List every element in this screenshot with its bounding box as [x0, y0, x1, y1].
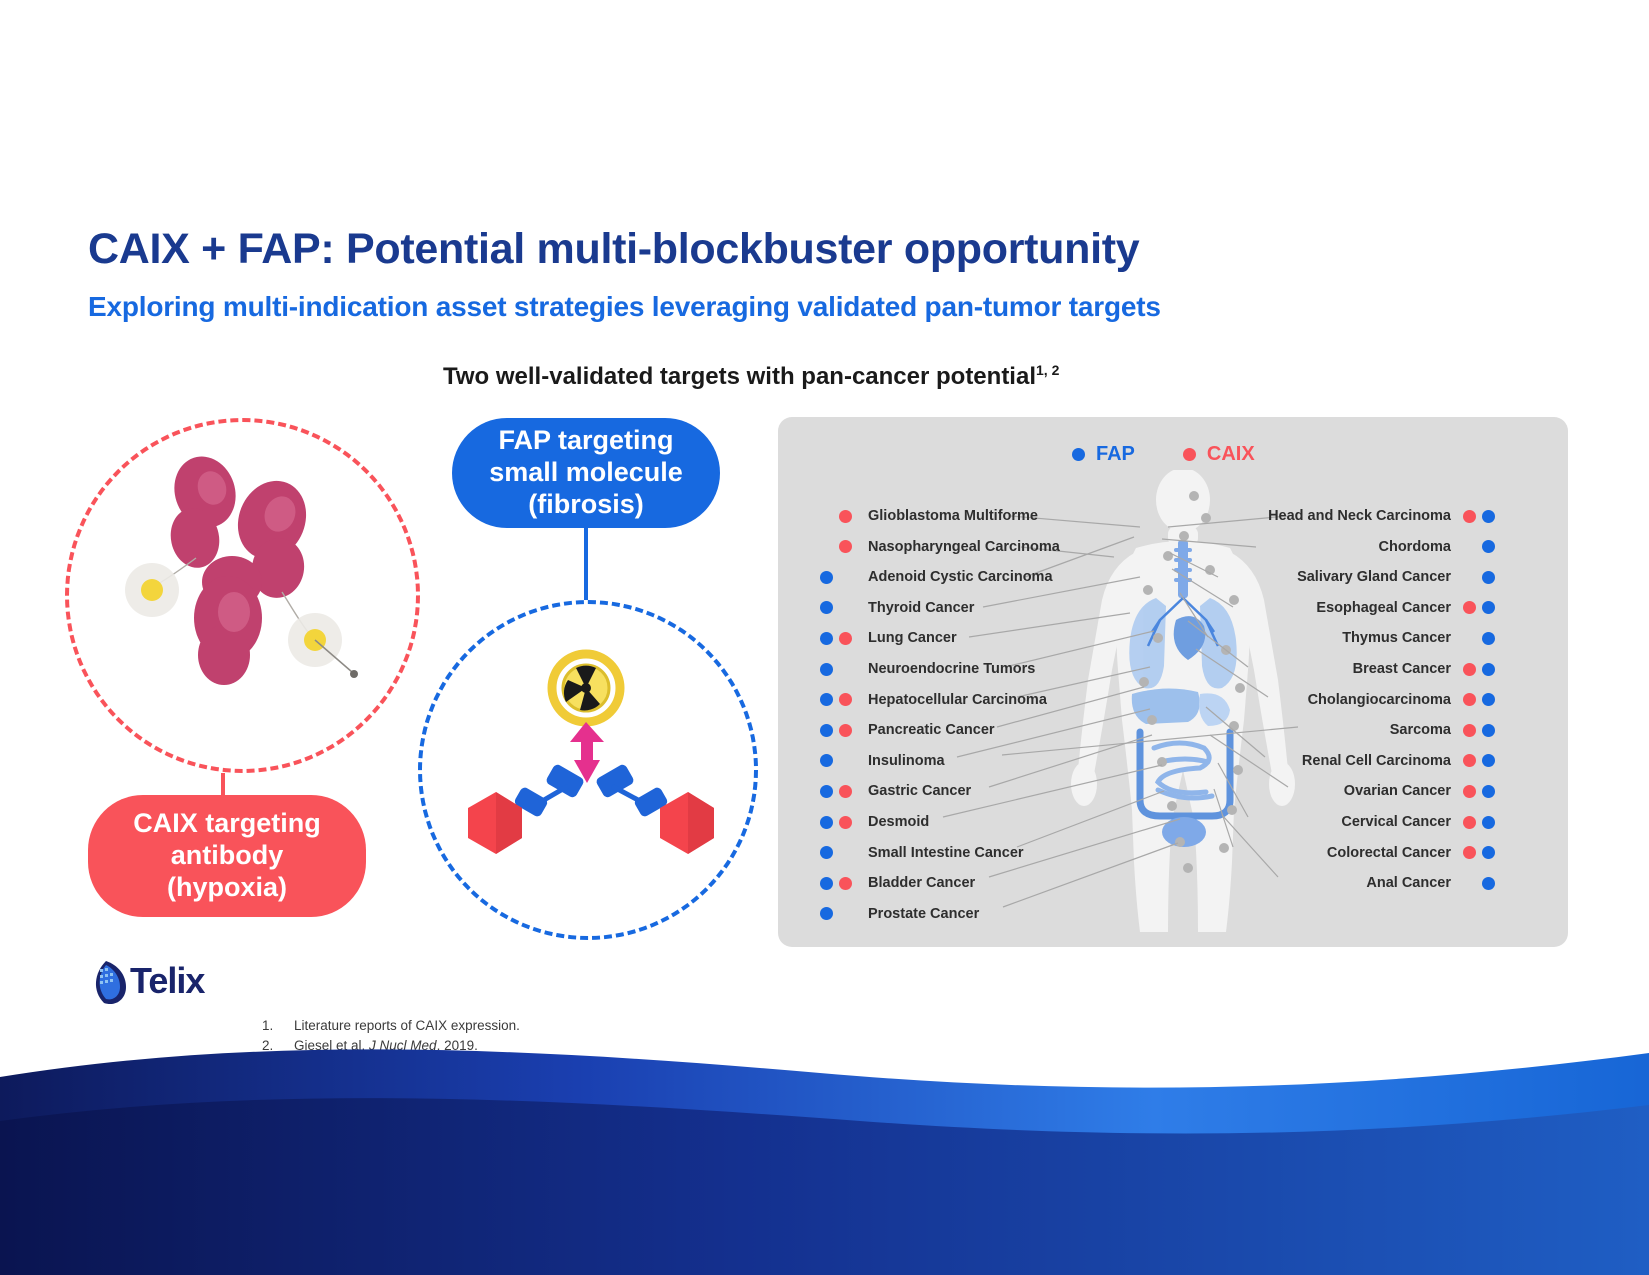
- indication-label: Desmoid: [868, 814, 929, 830]
- marker-dots: [1463, 724, 1499, 737]
- indication-row-right: Anal Cancer: [1366, 872, 1499, 894]
- caix-legend-dot-icon: [1183, 448, 1196, 461]
- marker-dots: [820, 571, 856, 584]
- indication-label: Anal Cancer: [1366, 875, 1451, 891]
- indication-row-left: Gastric Cancer: [820, 780, 971, 802]
- caix-dot-icon: [1463, 877, 1476, 890]
- indication-label: Cholangiocarcinoma: [1308, 692, 1451, 708]
- indication-label: Renal Cell Carcinoma: [1302, 753, 1451, 769]
- indication-row-left: Adenoid Cystic Carcinoma: [820, 566, 1053, 588]
- fap-dot-icon: [1482, 785, 1495, 798]
- caix-dot-icon: [1463, 571, 1476, 584]
- marker-dots: [1463, 632, 1499, 645]
- indication-label: Pancreatic Cancer: [868, 722, 995, 738]
- caix-pill-connector: [221, 773, 225, 797]
- caix-dot-icon: [839, 540, 852, 553]
- leader-lines: [778, 417, 1568, 947]
- legend-item-fap: FAP: [1072, 443, 1135, 466]
- marker-dots: [820, 510, 856, 523]
- caix-dot-icon: [1463, 632, 1476, 645]
- marker-dots: [820, 663, 856, 676]
- indication-label: Insulinoma: [868, 753, 945, 769]
- indication-row-left: Neuroendocrine Tumors: [820, 658, 1035, 680]
- fap-dot-icon: [1482, 510, 1495, 523]
- indication-row-left: Bladder Cancer: [820, 872, 975, 894]
- section-heading-superscript: 1, 2: [1036, 362, 1059, 378]
- marker-dots: [1463, 510, 1499, 523]
- caix-dot-icon: [839, 877, 852, 890]
- fap-dot-icon: [1482, 846, 1495, 859]
- indication-label: Esophageal Cancer: [1316, 600, 1451, 616]
- indication-label: Breast Cancer: [1353, 661, 1451, 677]
- indication-label: Sarcoma: [1390, 722, 1451, 738]
- fap-dot-icon: [820, 846, 833, 859]
- fap-pill-label: FAP targeting small molecule (fibrosis): [489, 425, 683, 521]
- marker-dots: [820, 540, 856, 553]
- indication-row-right: Renal Cell Carcinoma: [1302, 750, 1499, 772]
- indication-label: Thymus Cancer: [1342, 630, 1451, 646]
- indication-label: Prostate Cancer: [868, 906, 979, 922]
- footer-wave: [0, 1025, 1649, 1275]
- fap-dot-icon: [1482, 540, 1495, 553]
- indication-row-right: Sarcoma: [1390, 719, 1499, 741]
- indication-row-right: Colorectal Cancer: [1327, 842, 1499, 864]
- caix-dot-icon: [839, 785, 852, 798]
- indication-label: Hepatocellular Carcinoma: [868, 692, 1047, 708]
- fap-dot-icon: [1482, 571, 1495, 584]
- caix-dot-icon: [1463, 785, 1476, 798]
- indication-row-left: Glioblastoma Multiforme: [820, 505, 1038, 527]
- fap-dot-icon: [1482, 632, 1495, 645]
- caix-dot-icon: [1463, 601, 1476, 614]
- indication-row-right: Ovarian Cancer: [1344, 780, 1499, 802]
- indication-row-right: Chordoma: [1379, 536, 1500, 558]
- telix-wordmark: Telix: [130, 960, 204, 1002]
- fap-dot-icon: [820, 754, 833, 767]
- marker-dots: [1463, 816, 1499, 829]
- marker-dots: [820, 724, 856, 737]
- indication-row-right: Salivary Gland Cancer: [1297, 566, 1499, 588]
- indication-row-right: Cervical Cancer: [1341, 811, 1499, 833]
- fap-dot-icon: [820, 693, 833, 706]
- fap-dot-icon: [1482, 816, 1495, 829]
- legend-label-fap: FAP: [1096, 443, 1135, 466]
- marker-dots: [820, 632, 856, 645]
- marker-dots: [820, 601, 856, 614]
- fap-legend-dot-icon: [1072, 448, 1085, 461]
- fap-dot-icon: [820, 785, 833, 798]
- marker-dots: [1463, 601, 1499, 614]
- marker-dots: [820, 846, 856, 859]
- marker-dots: [820, 907, 856, 920]
- indication-row-left: Nasopharyngeal Carcinoma: [820, 536, 1060, 558]
- indication-label: Neuroendocrine Tumors: [868, 661, 1035, 677]
- legend-label-caix: CAIX: [1207, 443, 1255, 466]
- legend-item-caix: CAIX: [1183, 443, 1255, 466]
- fap-dot-icon: [820, 510, 833, 523]
- fap-dot-icon: [1482, 754, 1495, 767]
- indication-row-left: Insulinoma: [820, 750, 945, 772]
- indication-row-right: Esophageal Cancer: [1316, 597, 1499, 619]
- indication-row-left: Pancreatic Cancer: [820, 719, 995, 741]
- fap-dot-icon: [820, 632, 833, 645]
- marker-dots: [1463, 663, 1499, 676]
- fap-dot-icon: [820, 601, 833, 614]
- indication-label: Chordoma: [1379, 539, 1452, 555]
- fap-dot-icon: [1482, 663, 1495, 676]
- caix-dot-icon: [1463, 816, 1476, 829]
- fap-dot-icon: [820, 816, 833, 829]
- indication-row-left: Hepatocellular Carcinoma: [820, 689, 1047, 711]
- caix-dot-icon: [1463, 540, 1476, 553]
- indication-label: Head and Neck Carcinoma: [1268, 508, 1451, 524]
- caix-dot-icon: [1463, 724, 1476, 737]
- page-number: 117: [1604, 1036, 1625, 1051]
- caix-dot-icon: [839, 693, 852, 706]
- indication-row-right: Thymus Cancer: [1342, 627, 1499, 649]
- legend: FAP CAIX: [1072, 443, 1255, 466]
- marker-dots: [1463, 571, 1499, 584]
- indication-row-left: Small Intestine Cancer: [820, 842, 1024, 864]
- page-title: CAIX + FAP: Potential multi-blockbuster …: [88, 225, 1139, 274]
- caix-dot-icon: [839, 663, 852, 676]
- indication-label: Nasopharyngeal Carcinoma: [868, 539, 1060, 555]
- marker-dots: [820, 816, 856, 829]
- indication-row-right: Head and Neck Carcinoma: [1268, 505, 1499, 527]
- fap-dot-icon: [1482, 724, 1495, 737]
- caix-dot-icon: [1463, 510, 1476, 523]
- indication-label: Thyroid Cancer: [868, 600, 974, 616]
- section-heading: Two well-validated targets with pan-canc…: [443, 362, 1059, 391]
- indication-label: Adenoid Cystic Carcinoma: [868, 569, 1053, 585]
- fap-dot-icon: [820, 663, 833, 676]
- caix-dot-icon: [839, 816, 852, 829]
- indication-label: Salivary Gland Cancer: [1297, 569, 1451, 585]
- caix-dot-icon: [839, 907, 852, 920]
- indication-label: Glioblastoma Multiforme: [868, 508, 1038, 524]
- pan-cancer-indication-panel: [778, 417, 1568, 947]
- indication-row-left: Prostate Cancer: [820, 903, 979, 925]
- marker-dots: [1463, 785, 1499, 798]
- caix-dot-icon: [839, 846, 852, 859]
- fap-dot-icon: [820, 571, 833, 584]
- marker-dots: [1463, 693, 1499, 706]
- caix-dot-icon: [839, 724, 852, 737]
- indication-row-left: Desmoid: [820, 811, 929, 833]
- page-subtitle: Exploring multi-indication asset strateg…: [88, 291, 1161, 323]
- marker-dots: [1463, 877, 1499, 890]
- fap-pill-connector: [584, 528, 588, 600]
- fap-dot-icon: [820, 877, 833, 890]
- indication-label: Lung Cancer: [868, 630, 957, 646]
- caix-dot-icon: [1463, 663, 1476, 676]
- caix-dot-icon: [839, 510, 852, 523]
- caix-dot-icon: [1463, 846, 1476, 859]
- indication-row-right: Breast Cancer: [1353, 658, 1499, 680]
- caix-dot-icon: [839, 571, 852, 584]
- fap-targeting-pill[interactable]: FAP targeting small molecule (fibrosis): [452, 418, 720, 528]
- caix-pill-label: CAIX targeting antibody (hypoxia): [133, 808, 321, 904]
- marker-dots: [820, 693, 856, 706]
- fap-dot-icon: [820, 540, 833, 553]
- caix-dot-icon: [839, 632, 852, 645]
- fap-dot-icon: [820, 724, 833, 737]
- indication-label: Small Intestine Cancer: [868, 845, 1024, 861]
- marker-dots: [820, 754, 856, 767]
- section-heading-text: Two well-validated targets with pan-canc…: [443, 363, 1036, 390]
- caix-dot-icon: [1463, 693, 1476, 706]
- fap-dot-icon: [1482, 877, 1495, 890]
- slide: CAIX + FAP: Potential multi-blockbuster …: [0, 0, 1649, 1275]
- indication-label: Bladder Cancer: [868, 875, 975, 891]
- fap-dot-icon: [820, 907, 833, 920]
- indication-row-left: Lung Cancer: [820, 627, 957, 649]
- marker-dots: [820, 877, 856, 890]
- indication-label: Ovarian Cancer: [1344, 783, 1451, 799]
- indication-label: Cervical Cancer: [1341, 814, 1451, 830]
- indication-label: Colorectal Cancer: [1327, 845, 1451, 861]
- marker-dots: [1463, 846, 1499, 859]
- indication-row-left: Thyroid Cancer: [820, 597, 974, 619]
- fap-dot-icon: [1482, 693, 1495, 706]
- marker-dots: [1463, 540, 1499, 553]
- fap-dot-icon: [1482, 601, 1495, 614]
- marker-dots: [1463, 754, 1499, 767]
- indication-row-right: Cholangiocarcinoma: [1308, 689, 1499, 711]
- indication-label: Gastric Cancer: [868, 783, 971, 799]
- caix-targeting-pill[interactable]: CAIX targeting antibody (hypoxia): [88, 795, 366, 917]
- caix-dot-icon: [839, 754, 852, 767]
- marker-dots: [820, 785, 856, 798]
- caix-dot-icon: [1463, 754, 1476, 767]
- caix-dot-icon: [839, 601, 852, 614]
